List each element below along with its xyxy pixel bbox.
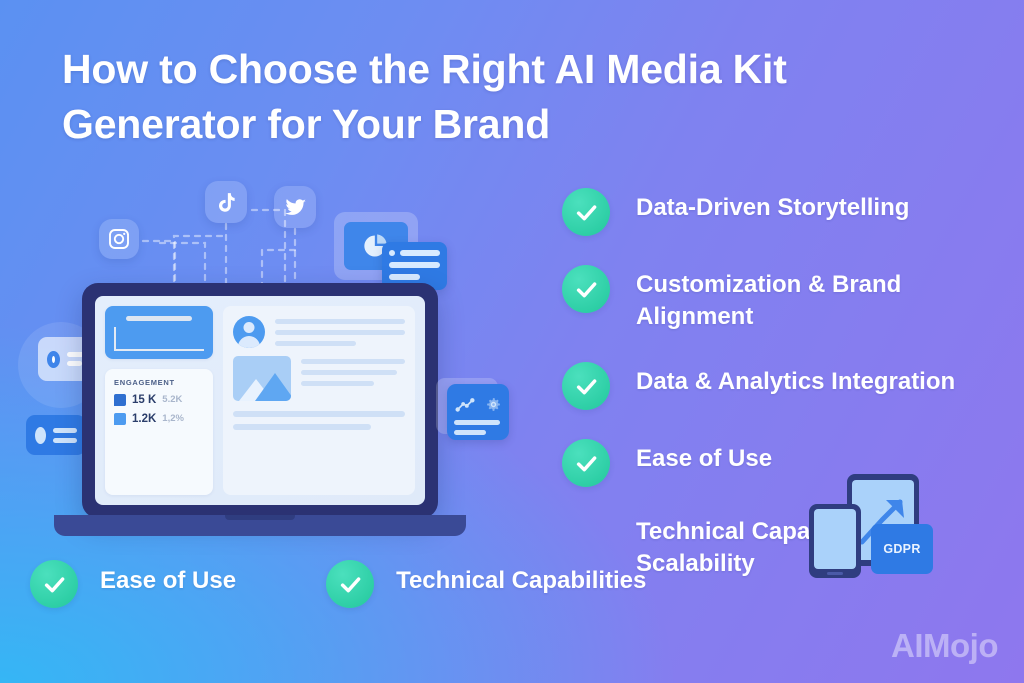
- check-icon: [562, 439, 610, 487]
- phone-icon: [809, 504, 861, 578]
- chart-title-placeholder: [126, 316, 192, 321]
- profile-header: [233, 316, 405, 348]
- check-icon: [326, 560, 374, 608]
- engagement-primary-value: 1.2K: [132, 413, 156, 425]
- node-graph-icon: [454, 393, 476, 415]
- twitter-icon[interactable]: [274, 186, 316, 228]
- list-row: [389, 262, 440, 268]
- settings-card-lines: [454, 420, 502, 435]
- phone-screen: [814, 509, 856, 569]
- checklist-item-data-analytics-integration[interactable]: Data & Analytics Integration: [562, 362, 962, 410]
- engagement-row: 1.2K 1,2%: [114, 413, 204, 425]
- bar-3: [158, 329, 169, 349]
- gdpr-lock-icon: GDPR: [871, 524, 933, 574]
- check-icon: [562, 265, 610, 313]
- bar-chart-card: [105, 306, 213, 359]
- list-row: [389, 274, 440, 280]
- laptop-base: [54, 515, 466, 536]
- devices-gdpr-illustration: GDPR: [805, 470, 945, 590]
- image-placeholder-icon: [233, 356, 291, 401]
- tiktok-icon[interactable]: [205, 181, 247, 223]
- laptop-lid: ENGAGEMENT 15 K 5.2K 1.2K 1,2%: [82, 283, 438, 518]
- engagement-row: 15 K 5.2K: [114, 394, 204, 406]
- profile-text-lines: [275, 316, 405, 348]
- profile-preview-card: [223, 306, 415, 495]
- bottom-checklist-item-technical-capabilities[interactable]: Technical Capabilities: [326, 560, 646, 608]
- title-line-2: Generator for Your Brand: [62, 97, 942, 152]
- comment-bubble-icon: [114, 413, 126, 425]
- comment-bubble-icon: [114, 394, 126, 406]
- laptop-illustration: ENGAGEMENT 15 K 5.2K 1.2K 1,2%: [82, 283, 438, 536]
- gear-icon: [485, 396, 502, 413]
- checklist-item-label: Ease of Use: [636, 439, 772, 475]
- analytics-card-icon: [26, 415, 86, 455]
- checklist-item-label: Data-Driven Storytelling: [636, 188, 909, 224]
- bar-2: [142, 333, 153, 349]
- instagram-icon[interactable]: [99, 219, 139, 259]
- checklist-item-label: Customization & Brand Alignment: [636, 265, 962, 333]
- avatar: [233, 316, 265, 348]
- check-icon: [30, 560, 78, 608]
- bottom-checklist-item-ease-of-use[interactable]: Ease of Use: [30, 560, 236, 608]
- analytics-settings-card: [447, 384, 509, 440]
- bar-4: [174, 333, 185, 349]
- bar-5: [190, 329, 201, 349]
- checklist-item-label: Data & Analytics Integration: [636, 362, 955, 398]
- check-icon: [562, 362, 610, 410]
- pie-icon: [35, 427, 46, 444]
- title-line-1: How to Choose the Right AI Media Kit: [62, 46, 787, 92]
- bar-chart-plot: [114, 327, 204, 351]
- engagement-secondary-value: 5.2K: [162, 394, 182, 405]
- settings-card-header: [454, 391, 502, 417]
- checklist-item-customization-brand-alignment[interactable]: Customization & Brand Alignment: [562, 265, 962, 333]
- lens-icon: [47, 351, 60, 368]
- engagement-title: ENGAGEMENT: [114, 378, 204, 387]
- dashboard-right-column: [223, 306, 415, 495]
- profile-text-lines: [301, 356, 405, 401]
- engagement-secondary-value: 1,2%: [162, 413, 184, 424]
- bottom-checklist-item-label: Technical Capabilities: [396, 560, 646, 596]
- profile-footer-lines: [233, 411, 405, 430]
- engagement-primary-value: 15 K: [132, 394, 156, 406]
- check-icon: [562, 188, 610, 236]
- dashboard-left-column: ENGAGEMENT 15 K 5.2K 1.2K 1,2%: [105, 306, 213, 495]
- bottom-checklist: Ease of Use Technical Capabilities: [30, 560, 646, 608]
- bar-1: [126, 335, 137, 349]
- page-title: How to Choose the Right AI Media Kit Gen…: [62, 42, 942, 152]
- gdpr-label: GDPR: [883, 542, 920, 556]
- profile-media-block: [233, 356, 405, 401]
- checklist-item-data-driven-storytelling[interactable]: Data-Driven Storytelling: [562, 188, 962, 236]
- engagement-card: ENGAGEMENT 15 K 5.2K 1.2K 1,2%: [105, 369, 213, 495]
- bottom-checklist-item-label: Ease of Use: [100, 560, 236, 596]
- list-row: [389, 250, 440, 256]
- watermark-logo: AIMojo: [891, 627, 998, 665]
- laptop-screen: ENGAGEMENT 15 K 5.2K 1.2K 1,2%: [95, 296, 425, 505]
- text-lines-icon: [53, 428, 77, 443]
